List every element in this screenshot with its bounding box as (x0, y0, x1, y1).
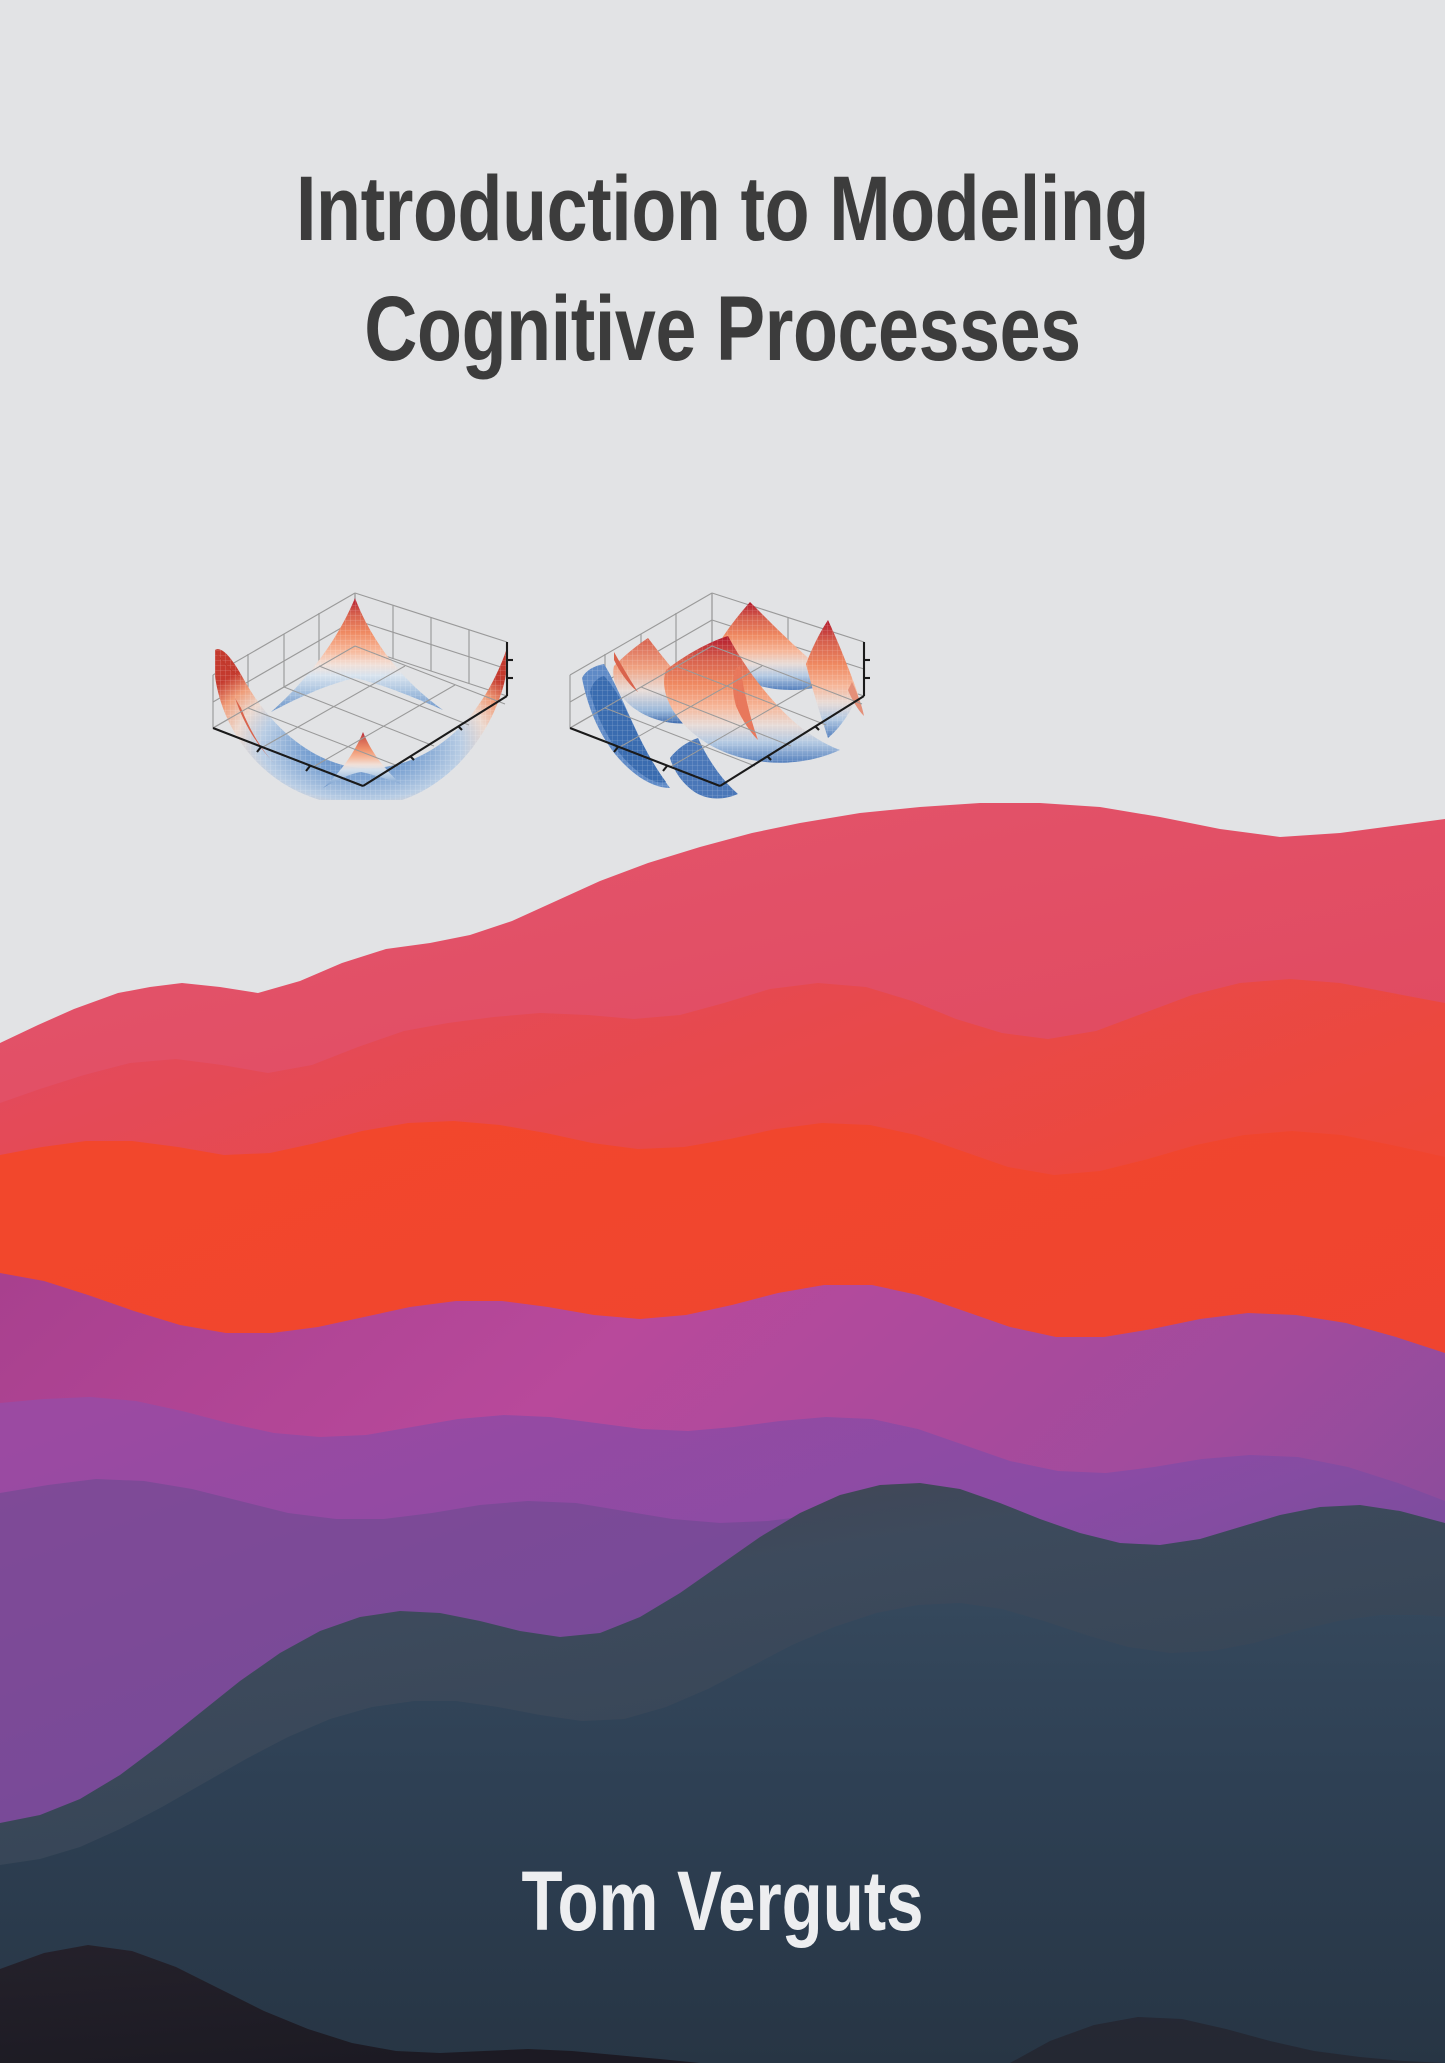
author-name: Tom Verguts (145, 1857, 1301, 1945)
page-title: Introduction to Modeling Cognitive Proce… (0, 150, 1445, 389)
author: Tom Verguts (0, 1857, 1445, 1945)
left-surface-plot (195, 470, 525, 800)
title-line-2: Cognitive Processes (145, 270, 1301, 390)
title-line-1: Introduction to Modeling (145, 150, 1301, 270)
right-plot-surface (582, 602, 864, 799)
left-plot-surface (208, 598, 513, 800)
figure-pair (0, 470, 1445, 830)
book-cover: Introduction to Modeling Cognitive Proce… (0, 0, 1445, 2063)
right-surface-plot (552, 470, 882, 800)
